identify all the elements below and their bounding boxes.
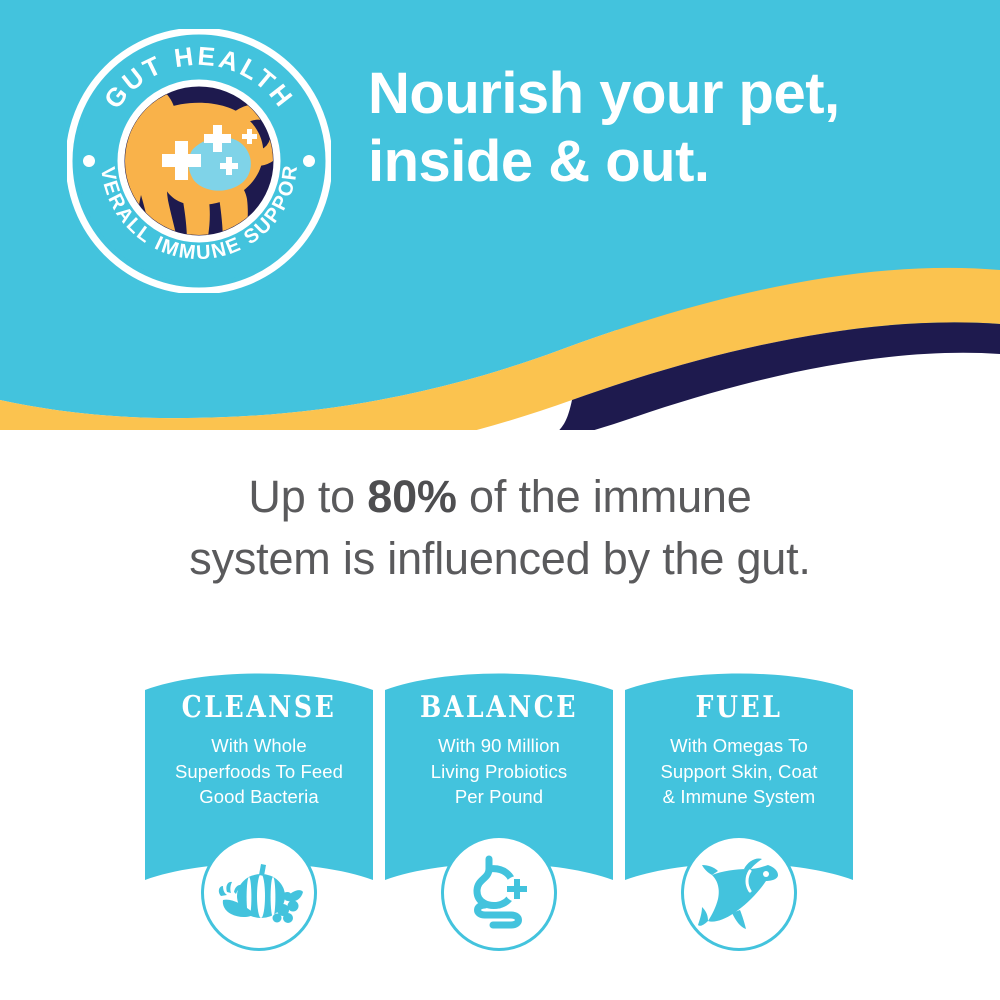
benefit-card-balance[interactable]: BALANCE With 90 Million Living Probiotic…: [385, 662, 613, 952]
badge-dot-left: [83, 155, 95, 167]
card-text-block: FUEL With Omegas To Support Skin, Coat &…: [625, 662, 853, 810]
card-title: CLEANSE: [163, 693, 355, 723]
stat-line-1: Up to 80% of the immune: [90, 466, 910, 528]
gut-health-badge: GUT HEALTH OVERALL IMMUNE SUPPORT: [67, 29, 331, 293]
stat-headline: Up to 80% of the immune system is influe…: [90, 466, 910, 590]
card-subtitle-line-1: With Whole: [145, 733, 373, 759]
stomach-intestine-plus-icon: [441, 835, 557, 951]
badge-dot-right: [303, 155, 315, 167]
card-subtitle-line-2: Living Probiotics: [385, 759, 613, 785]
card-text-block: BALANCE With 90 Million Living Probiotic…: [385, 662, 613, 810]
hero-headline: Nourish your pet, inside & out.: [368, 60, 984, 197]
card-subtitle: With Whole Superfoods To Feed Good Bacte…: [145, 733, 373, 810]
card-subtitle-line-2: Support Skin, Coat: [625, 759, 853, 785]
card-title: BALANCE: [403, 693, 595, 723]
fish-icon: [681, 835, 797, 951]
stat-emphasis: 80%: [367, 471, 456, 522]
card-subtitle-line-3: Per Pound: [385, 784, 613, 810]
card-subtitle-line-3: & Immune System: [625, 784, 853, 810]
stat-prefix: Up to: [248, 471, 367, 522]
card-subtitle: With Omegas To Support Skin, Coat & Immu…: [625, 733, 853, 810]
stat-line-2: system is influenced by the gut.: [90, 528, 910, 590]
benefit-card-fuel[interactable]: FUEL With Omegas To Support Skin, Coat &…: [625, 662, 853, 952]
stat-suffix: of the immune: [457, 471, 752, 522]
card-subtitle-line-3: Good Bacteria: [145, 784, 373, 810]
promo-graphic: GUT HEALTH OVERALL IMMUNE SUPPORT Nouris…: [0, 0, 1000, 1000]
wave-navy-layer: [538, 322, 1000, 430]
hero-headline-line-1: Nourish your pet,: [368, 61, 840, 126]
pumpkin-carrot-berries-icon: [201, 835, 317, 951]
card-subtitle-line-2: Superfoods To Feed: [145, 759, 373, 785]
card-subtitle-line-1: With Omegas To: [625, 733, 853, 759]
benefit-cards: CLEANSE With Whole Superfoods To Feed Go…: [0, 662, 1000, 962]
card-subtitle-line-1: With 90 Million: [385, 733, 613, 759]
hero-headline-line-2: inside & out.: [368, 128, 984, 196]
card-subtitle: With 90 Million Living Probiotics Per Po…: [385, 733, 613, 810]
benefit-card-cleanse[interactable]: CLEANSE With Whole Superfoods To Feed Go…: [145, 662, 373, 952]
card-title: FUEL: [643, 693, 835, 723]
card-text-block: CLEANSE With Whole Superfoods To Feed Go…: [145, 662, 373, 810]
